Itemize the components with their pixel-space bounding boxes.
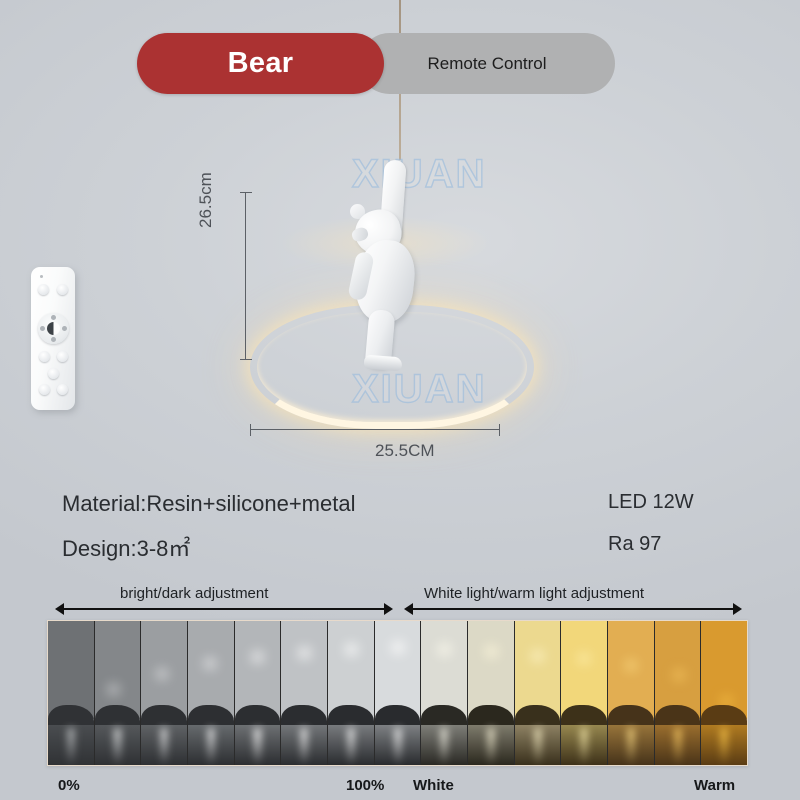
light-swatch [375,621,422,765]
remote-button-bulb [57,351,68,362]
product-infographic: Bear Remote Control XIUAN XIUAN 26.5cm [0,0,800,800]
brightness-adjustment-label: bright/dark adjustment [120,585,268,602]
tab-remote-control-label: Remote Control [427,54,546,74]
remote-button-b [39,384,50,395]
remote-ir-led-icon [40,275,43,278]
width-dimension-label: 25.5CM [375,441,435,461]
light-swatch [421,621,468,765]
light-swatch [95,621,142,765]
light-swatch [701,621,747,765]
spec-led-power: LED 12W [608,491,694,514]
light-swatch [515,621,562,765]
dpad-dot-right [62,326,67,331]
light-swatch [188,621,235,765]
tab-remote-control[interactable]: Remote Control [359,33,615,94]
light-swatch [281,621,328,765]
spec-design-area: Design:3-8㎡ [62,531,190,563]
scale-label-max: 100% [346,777,384,794]
brightness-contrast-icon [47,322,60,335]
remote-button-a [48,368,59,379]
watermark-bottom: XIUAN [352,367,486,412]
spec-material: Material:Resin+silicone+metal [62,491,355,517]
remote-control-handset [31,267,75,410]
temperature-range-arrow [404,602,742,616]
scale-label-min: 0% [58,777,80,794]
light-swatch [328,621,375,765]
remote-dpad [38,313,69,344]
spec-color-rendering: Ra 97 [608,533,661,556]
remote-button-on [38,284,49,295]
scale-label-warm: Warm [694,777,735,794]
brightness-range-arrow [55,602,393,616]
remote-button-off [57,284,68,295]
remote-button-c [57,384,68,395]
light-swatch [235,621,282,765]
height-dimension-line [245,192,247,360]
light-scale-strip [47,620,748,766]
light-swatch [468,621,515,765]
bear-figurine [342,160,432,370]
light-swatch [608,621,655,765]
height-dimension-label: 26.5cm [196,172,216,228]
tab-bear[interactable]: Bear [137,33,384,94]
variant-tab-bar: Bear Remote Control [137,33,615,94]
light-swatch [48,621,95,765]
light-swatch [141,621,188,765]
dpad-dot-up [51,315,56,320]
dpad-dot-left [40,326,45,331]
remote-button-moon [39,351,50,362]
light-swatch [561,621,608,765]
dpad-dot-down [51,337,56,342]
tab-bear-label: Bear [228,47,294,80]
scale-label-white: White [413,777,454,794]
width-dimension-line [250,429,500,431]
light-swatch [655,621,702,765]
temperature-adjustment-label: White light/warm light adjustment [424,585,644,602]
